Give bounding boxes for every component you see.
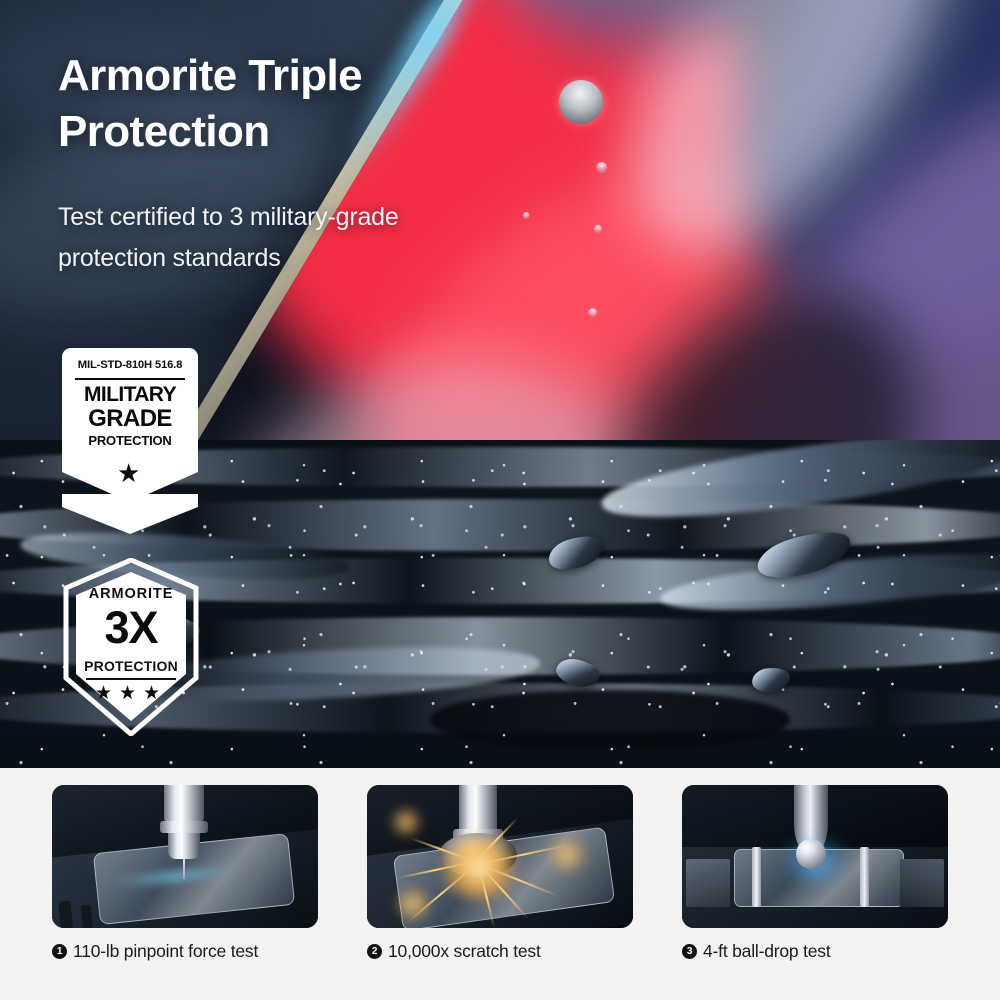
multiplier-label: 3X — [58, 603, 204, 653]
test-card: 1 110-lb pinpoint force test — [52, 785, 318, 962]
hero-section: Armorite Triple Protection Test certifie… — [0, 0, 1000, 768]
pinpoint-force-test-photo — [52, 785, 318, 928]
test-card: 2 10,000x scratch test — [367, 785, 633, 962]
test-card: 3 4-ft ball-drop test — [682, 785, 948, 962]
armorite-brand-label: ARMORITE — [58, 586, 204, 602]
grade-label: GRADE — [62, 405, 198, 433]
chevron-stripe — [62, 494, 198, 534]
step-number: 3 — [682, 944, 697, 959]
step-number: 1 — [52, 944, 67, 959]
protection-label: PROTECTION — [62, 433, 198, 448]
military-grade-badge: MIL-STD-810H 516.8 MILITARY GRADE PROTEC… — [62, 348, 198, 532]
test-cards-strip: 1 110-lb pinpoint force test — [0, 768, 1000, 1000]
protection-label: PROTECTION — [58, 658, 204, 674]
star-icon: ★ — [117, 460, 140, 486]
divider — [86, 678, 176, 680]
mil-std-label: MIL-STD-810H 516.8 — [62, 359, 198, 371]
test-caption: 3 4-ft ball-drop test — [682, 941, 948, 962]
ball-drop-test-photo — [682, 785, 948, 928]
test-caption: 2 10,000x scratch test — [367, 941, 633, 962]
product-marketing-image: Armorite Triple Protection Test certifie… — [0, 0, 1000, 1000]
armorite-3x-badge: ARMORITE 3X PROTECTION ★★★ — [58, 558, 204, 736]
scratch-test-photo — [367, 785, 633, 928]
three-stars-icon: ★★★ — [58, 682, 204, 705]
page-title: Armorite Triple Protection — [58, 48, 578, 160]
step-number: 2 — [367, 944, 382, 959]
page-subtitle: Test certified to 3 military-grade prote… — [58, 197, 428, 279]
caption-text: 4-ft ball-drop test — [703, 941, 831, 962]
military-label: MILITARY — [62, 383, 198, 407]
test-caption: 1 110-lb pinpoint force test — [52, 941, 318, 962]
caption-text: 10,000x scratch test — [388, 941, 541, 962]
divider — [75, 378, 185, 380]
caption-text: 110-lb pinpoint force test — [73, 941, 258, 962]
